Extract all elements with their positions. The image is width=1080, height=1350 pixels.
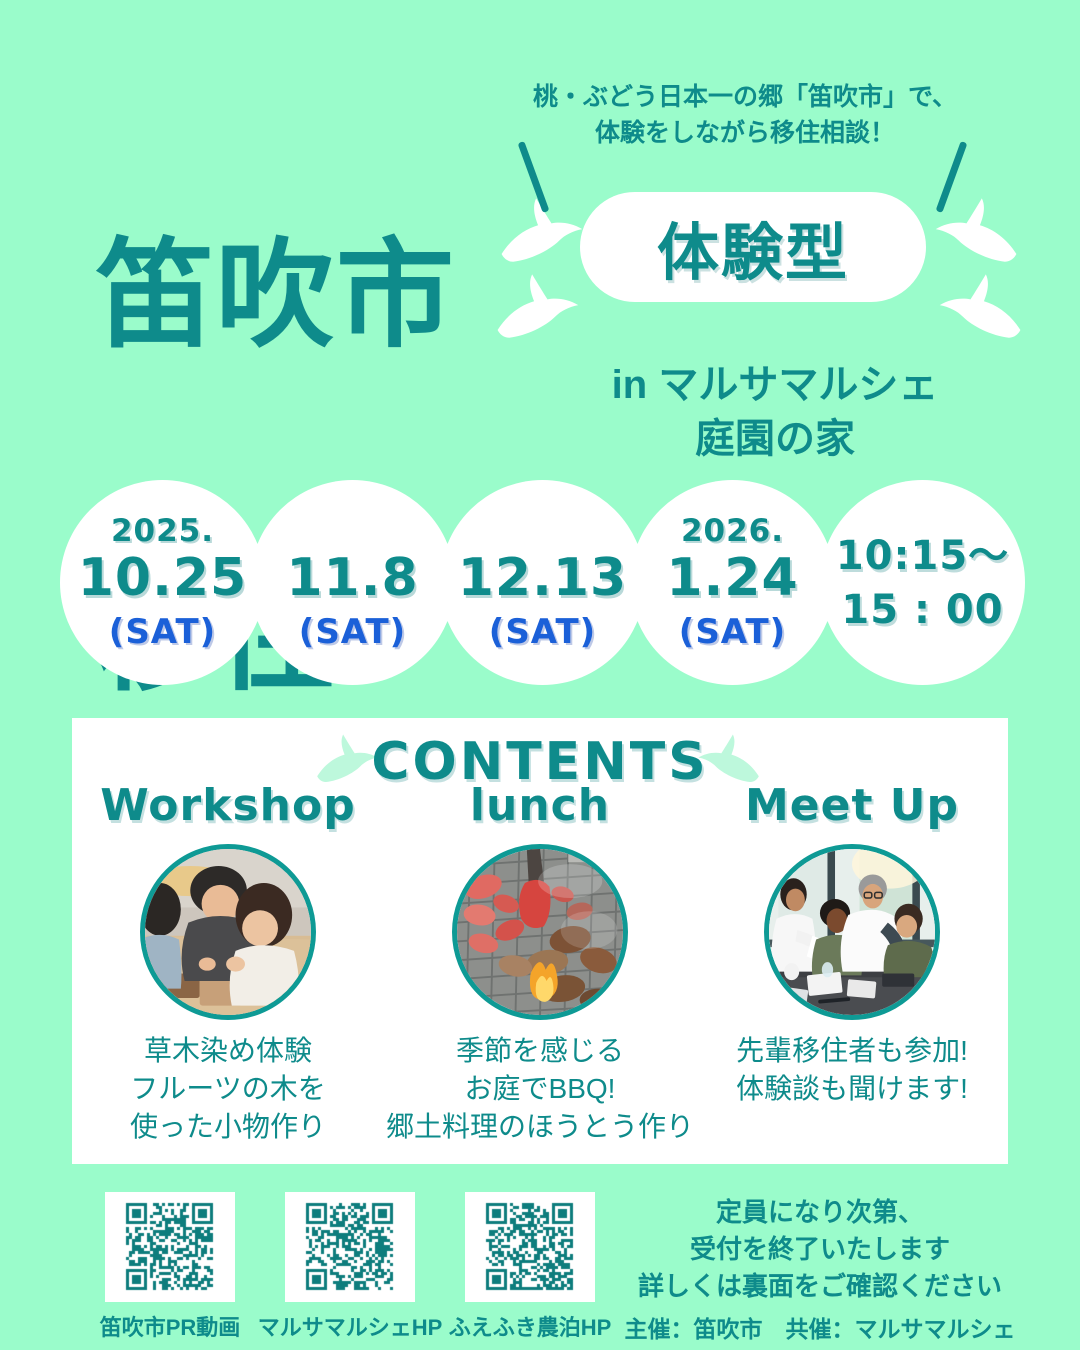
poster-root: 笛吹市 移住 交流会 桃・ぶどう日本一の郷「笛吹市」で、 体験をしながら移住相談… — [0, 0, 1080, 1350]
caption-line: 先輩移住者も参加! — [687, 1032, 1017, 1070]
caption-line: お庭でBBQ! — [375, 1070, 705, 1108]
date-dayofweek: (SAT) — [489, 612, 596, 652]
venue-line-1: in マルサマルシェ — [612, 363, 939, 407]
caption-line: 郷土料理のほうとう作り — [375, 1108, 705, 1146]
workshop-craft-photo — [140, 844, 316, 1020]
caption-line: 使った小物作り — [63, 1108, 393, 1146]
qr-code-label: ふえふき農泊HP — [449, 1310, 612, 1342]
date-monthday: 10.25 — [78, 551, 247, 606]
qr-code-icon[interactable] — [285, 1192, 415, 1302]
qr-code-item[interactable]: ふえふき農泊HP — [460, 1192, 600, 1342]
experience-type-badge: 体験型 — [580, 192, 926, 302]
date-circle: 2025. 10.25 (SAT) — [60, 480, 265, 685]
venue-name: in マルサマルシェ 庭園の家 — [555, 358, 995, 466]
content-column-workshop: Workshop — [72, 780, 384, 1145]
qr-code-icon[interactable] — [465, 1192, 595, 1302]
tagline-line-2: 体験をしながら移住相談！ — [505, 116, 985, 152]
tagline-line-1: 桃・ぶどう日本一の郷「笛吹市」で、 — [533, 83, 957, 111]
column-heading: lunch — [470, 780, 610, 834]
date-monthday: 12.13 — [458, 551, 627, 606]
tagline: 桃・ぶどう日本一の郷「笛吹市」で、 体験をしながら移住相談！ — [505, 80, 985, 151]
hosts-line: 主催：笛吹市 共催：マルサマルシェ — [600, 1310, 1040, 1344]
content-column-meetup: Meet Up — [696, 780, 1008, 1145]
column-caption: 先輩移住者も参加! 体験談も聞けます! — [687, 1032, 1017, 1108]
date-year: 2025. — [111, 513, 214, 549]
date-dayofweek: (SAT) — [109, 612, 216, 652]
caption-line: 体験談も聞けます! — [687, 1070, 1017, 1108]
date-circle: 2026. 1.24 (SAT) — [630, 480, 835, 685]
people-meeting-photo — [764, 844, 940, 1020]
caption-line: フルーツの木を — [63, 1070, 393, 1108]
time-end: 15 : 00 — [841, 583, 1003, 637]
decorative-slash-right — [936, 141, 968, 213]
contents-columns: Workshop — [72, 780, 1008, 1145]
column-caption: 季節を感じる お庭でBBQ! 郷土料理のほうとう作り — [375, 1032, 705, 1145]
column-heading: Meet Up — [745, 780, 959, 834]
date-circle: 12.13 (SAT) — [440, 480, 645, 685]
date-circles: 2025. 10.25 (SAT) 11.8 (SAT) 12.13 (SAT)… — [60, 480, 1030, 685]
date-dayofweek: (SAT) — [679, 612, 786, 652]
qr-code-group: 笛吹市PR動画 マルサマルシェHP ふえふき農泊HP — [100, 1192, 600, 1342]
decorative-slash-left — [518, 141, 550, 213]
hummingbird-icon — [488, 272, 584, 342]
column-caption: 草木染め体験 フルーツの木を 使った小物作り — [63, 1032, 393, 1145]
column-heading: Workshop — [100, 780, 355, 834]
headline-line-1: 笛吹市 — [96, 239, 456, 353]
hummingbird-icon — [934, 272, 1030, 342]
qr-code-icon[interactable] — [105, 1192, 235, 1302]
date-dayofweek: (SAT) — [299, 612, 406, 652]
notice-line: 定員になり次第、 — [620, 1194, 1020, 1231]
caption-line: 季節を感じる — [375, 1032, 705, 1070]
time-circle: 10:15〜 15 : 00 — [820, 480, 1025, 685]
capacity-notice: 定員になり次第、 受付を終了いたします 詳しくは裏面をご確認ください — [620, 1194, 1020, 1305]
qr-code-label: マルサマルシェHP — [258, 1310, 443, 1342]
time-start: 10:15〜 — [836, 529, 1009, 583]
content-column-lunch: lunch — [384, 780, 696, 1145]
contents-panel: CONTENTS Workshop — [72, 718, 1008, 1164]
venue-line-2: 庭園の家 — [555, 412, 995, 466]
caption-line: 草木染め体験 — [63, 1032, 393, 1070]
qr-code-item[interactable]: 笛吹市PR動画 — [100, 1192, 240, 1342]
date-year: 2026. — [681, 513, 784, 549]
qr-code-label: 笛吹市PR動画 — [100, 1310, 241, 1342]
qr-code-item[interactable]: マルサマルシェHP — [280, 1192, 420, 1342]
notice-line: 受付を終了いたします — [620, 1231, 1020, 1268]
bbq-grill-photo — [452, 844, 628, 1020]
date-monthday: 11.8 — [286, 551, 418, 606]
badge-label: 体験型 — [657, 202, 849, 292]
notice-line: 詳しくは裏面をご確認ください — [620, 1268, 1020, 1305]
date-circle: 11.8 (SAT) — [250, 480, 455, 685]
date-monthday: 1.24 — [666, 551, 798, 606]
